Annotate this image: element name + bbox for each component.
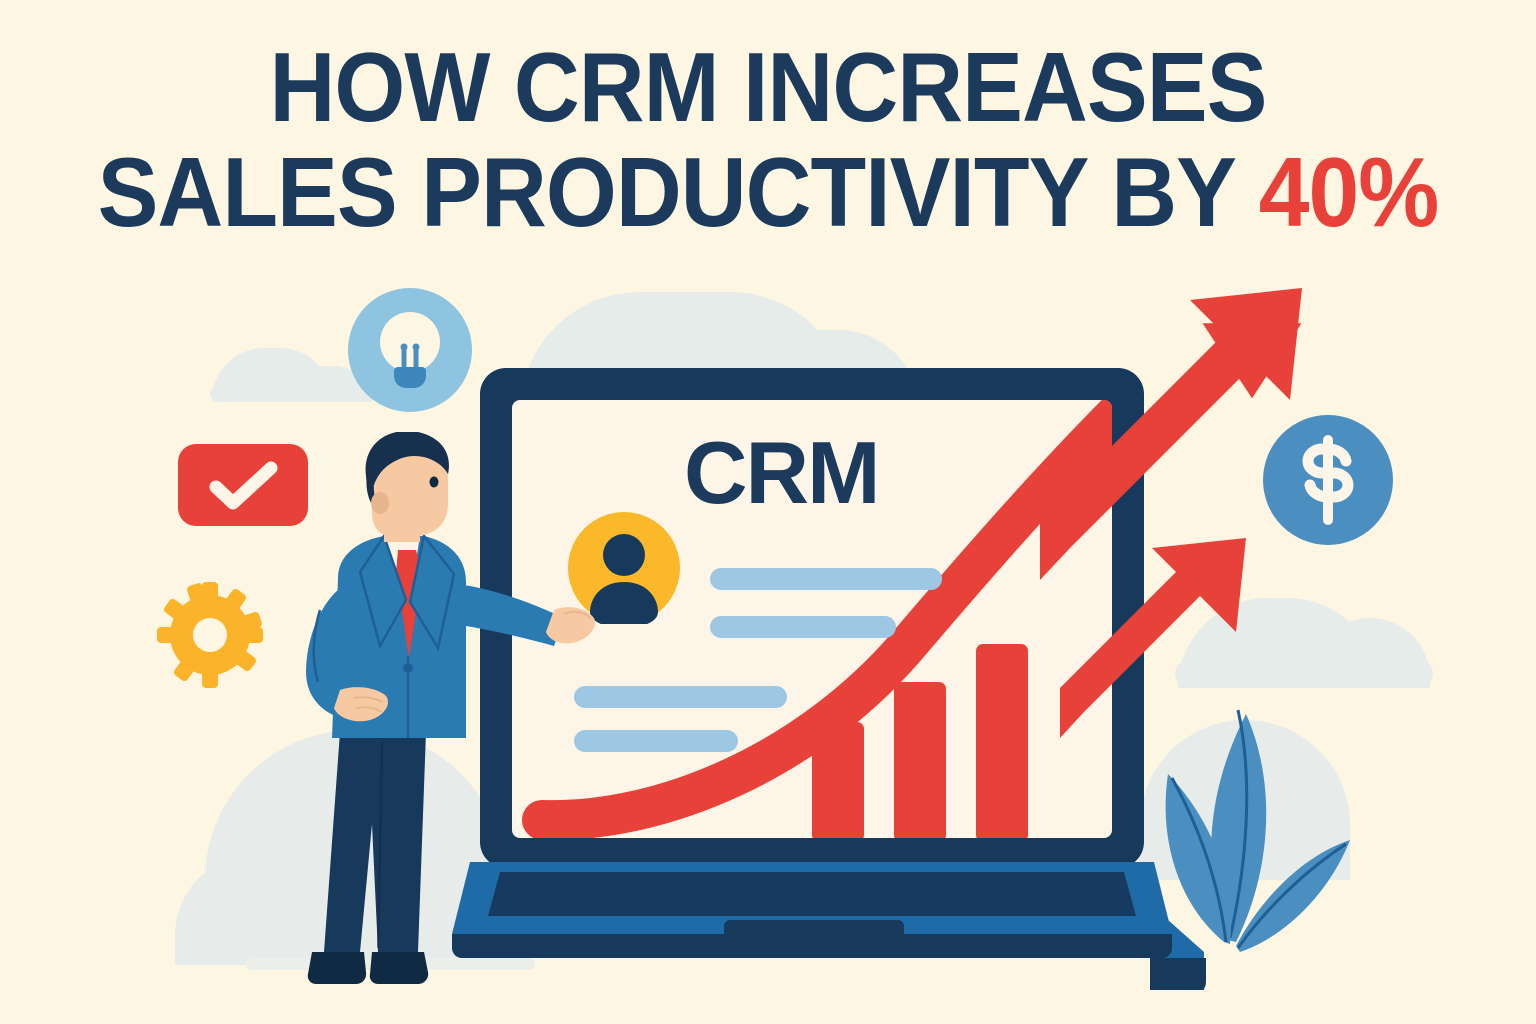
- page-title: HOW CRM INCREASES SALES PRODUCTIVITY BY …: [0, 36, 1536, 244]
- bar-chart: [512, 400, 1112, 838]
- chart-bar-3: [976, 644, 1028, 838]
- infographic-canvas: HOW CRM INCREASES SALES PRODUCTIVITY BY …: [0, 0, 1536, 1024]
- laptop-screen[interactable]: CRM: [512, 400, 1112, 838]
- title-line-1: HOW CRM INCREASES: [54, 36, 1482, 139]
- lightbulb-icon: [348, 288, 472, 412]
- gear-icon: [155, 580, 265, 690]
- growth-arrow-small-icon: [1050, 520, 1260, 750]
- title-line-2: SALES PRODUCTIVITY BY 40%: [54, 141, 1482, 244]
- chart-bar-1: [812, 722, 864, 838]
- businessman-character: [268, 432, 598, 994]
- chart-bar-2: [894, 682, 946, 838]
- title-accent-percent: 40%: [1259, 137, 1439, 247]
- title-line-2-text: SALES PRODUCTIVITY BY: [98, 137, 1259, 247]
